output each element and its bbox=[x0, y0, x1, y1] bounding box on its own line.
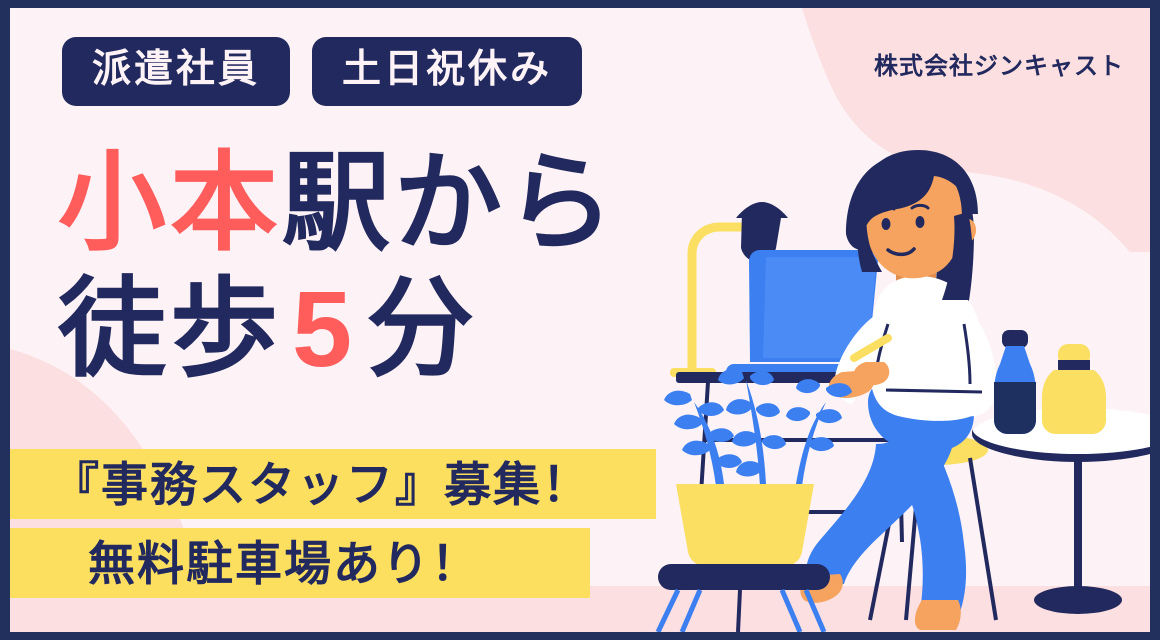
headline-line-1: 小本駅から bbox=[58, 140, 618, 266]
headline-line-2: 徒歩5分 bbox=[58, 266, 618, 392]
highlight-bar-gap bbox=[10, 519, 656, 528]
company-name: 株式会社ジンキャスト bbox=[874, 46, 1124, 81]
illustration-woman-working bbox=[630, 72, 1150, 632]
blue-bottle-icon bbox=[994, 330, 1036, 434]
job-advertisement-banner: 株式会社ジンキャスト 派遣社員 土日祝休み 小本駅から 徒歩5分 『事務スタッフ… bbox=[0, 0, 1160, 640]
headline-minutes-number: 5 bbox=[282, 268, 366, 389]
tag-group: 派遣社員 土日祝休み bbox=[62, 37, 582, 106]
tag-employment-type: 派遣社員 bbox=[62, 37, 290, 106]
plant-pot bbox=[676, 484, 814, 568]
headline-line-1-rest: 駅から bbox=[282, 142, 618, 263]
eye-left bbox=[882, 218, 891, 230]
headline: 小本駅から 徒歩5分 bbox=[58, 140, 618, 393]
headline-minutes-suffix: 分 bbox=[366, 268, 478, 389]
plant-leaves bbox=[664, 369, 852, 486]
eye-right bbox=[916, 216, 925, 228]
banner-canvas: 株式会社ジンキャスト 派遣社員 土日祝休み 小本駅から 徒歩5分 『事務スタッフ… bbox=[10, 8, 1150, 632]
highlight-bar-parking: 無料駐車場あり！ bbox=[10, 528, 590, 598]
side-table bbox=[972, 408, 1150, 614]
tag-holiday: 土日祝休み bbox=[312, 37, 582, 106]
hem-line bbox=[886, 390, 982, 392]
highlight-bar-group: 『事務スタッフ』募集！ 無料駐車場あり！ bbox=[10, 449, 656, 598]
yellow-bottle-icon bbox=[1042, 344, 1106, 434]
foot-back bbox=[915, 600, 961, 630]
highlight-bar-position: 『事務スタッフ』募集！ bbox=[10, 449, 656, 519]
hand-right bbox=[854, 362, 890, 385]
headline-station-name: 小本 bbox=[58, 142, 282, 263]
headline-walk-prefix: 徒歩 bbox=[58, 268, 282, 389]
